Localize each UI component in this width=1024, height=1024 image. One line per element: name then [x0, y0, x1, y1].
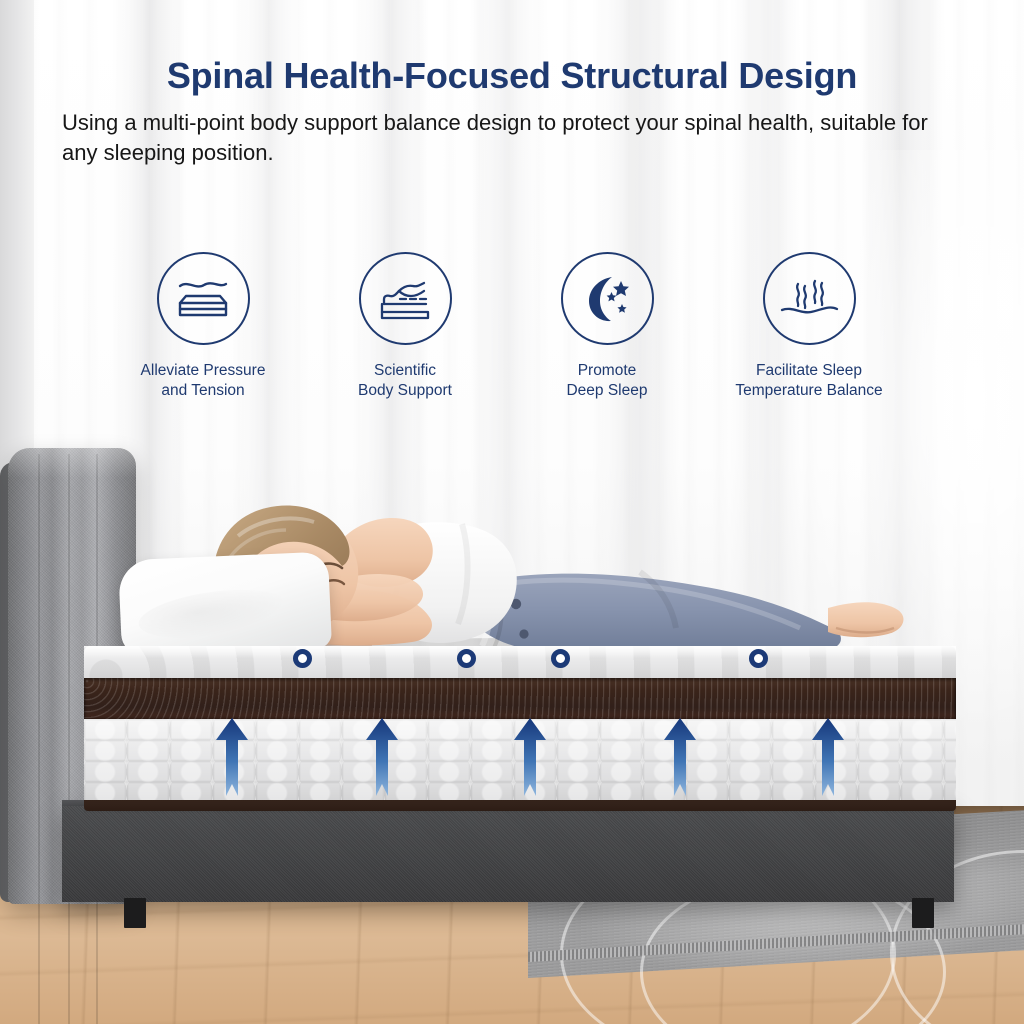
bed-leg [912, 898, 934, 928]
support-arrow-3 [513, 718, 547, 796]
support-point-shoulder [293, 649, 312, 668]
support-arrow-5 [811, 718, 845, 796]
mattress-mesh-band [84, 678, 956, 720]
mattress-top-highlight [84, 646, 956, 658]
bed-leg [124, 898, 146, 928]
support-arrow-2 [365, 718, 399, 796]
infographic-canvas: Spinal Health-Focused Structural Design … [0, 0, 1024, 1024]
support-point-hip [551, 649, 570, 668]
support-point-waist [457, 649, 476, 668]
support-arrow-1 [215, 718, 249, 796]
support-arrow-4 [663, 718, 697, 796]
support-point-leg [749, 649, 768, 668]
bed-base [62, 806, 954, 902]
mattress-drop-shadow [84, 800, 956, 814]
